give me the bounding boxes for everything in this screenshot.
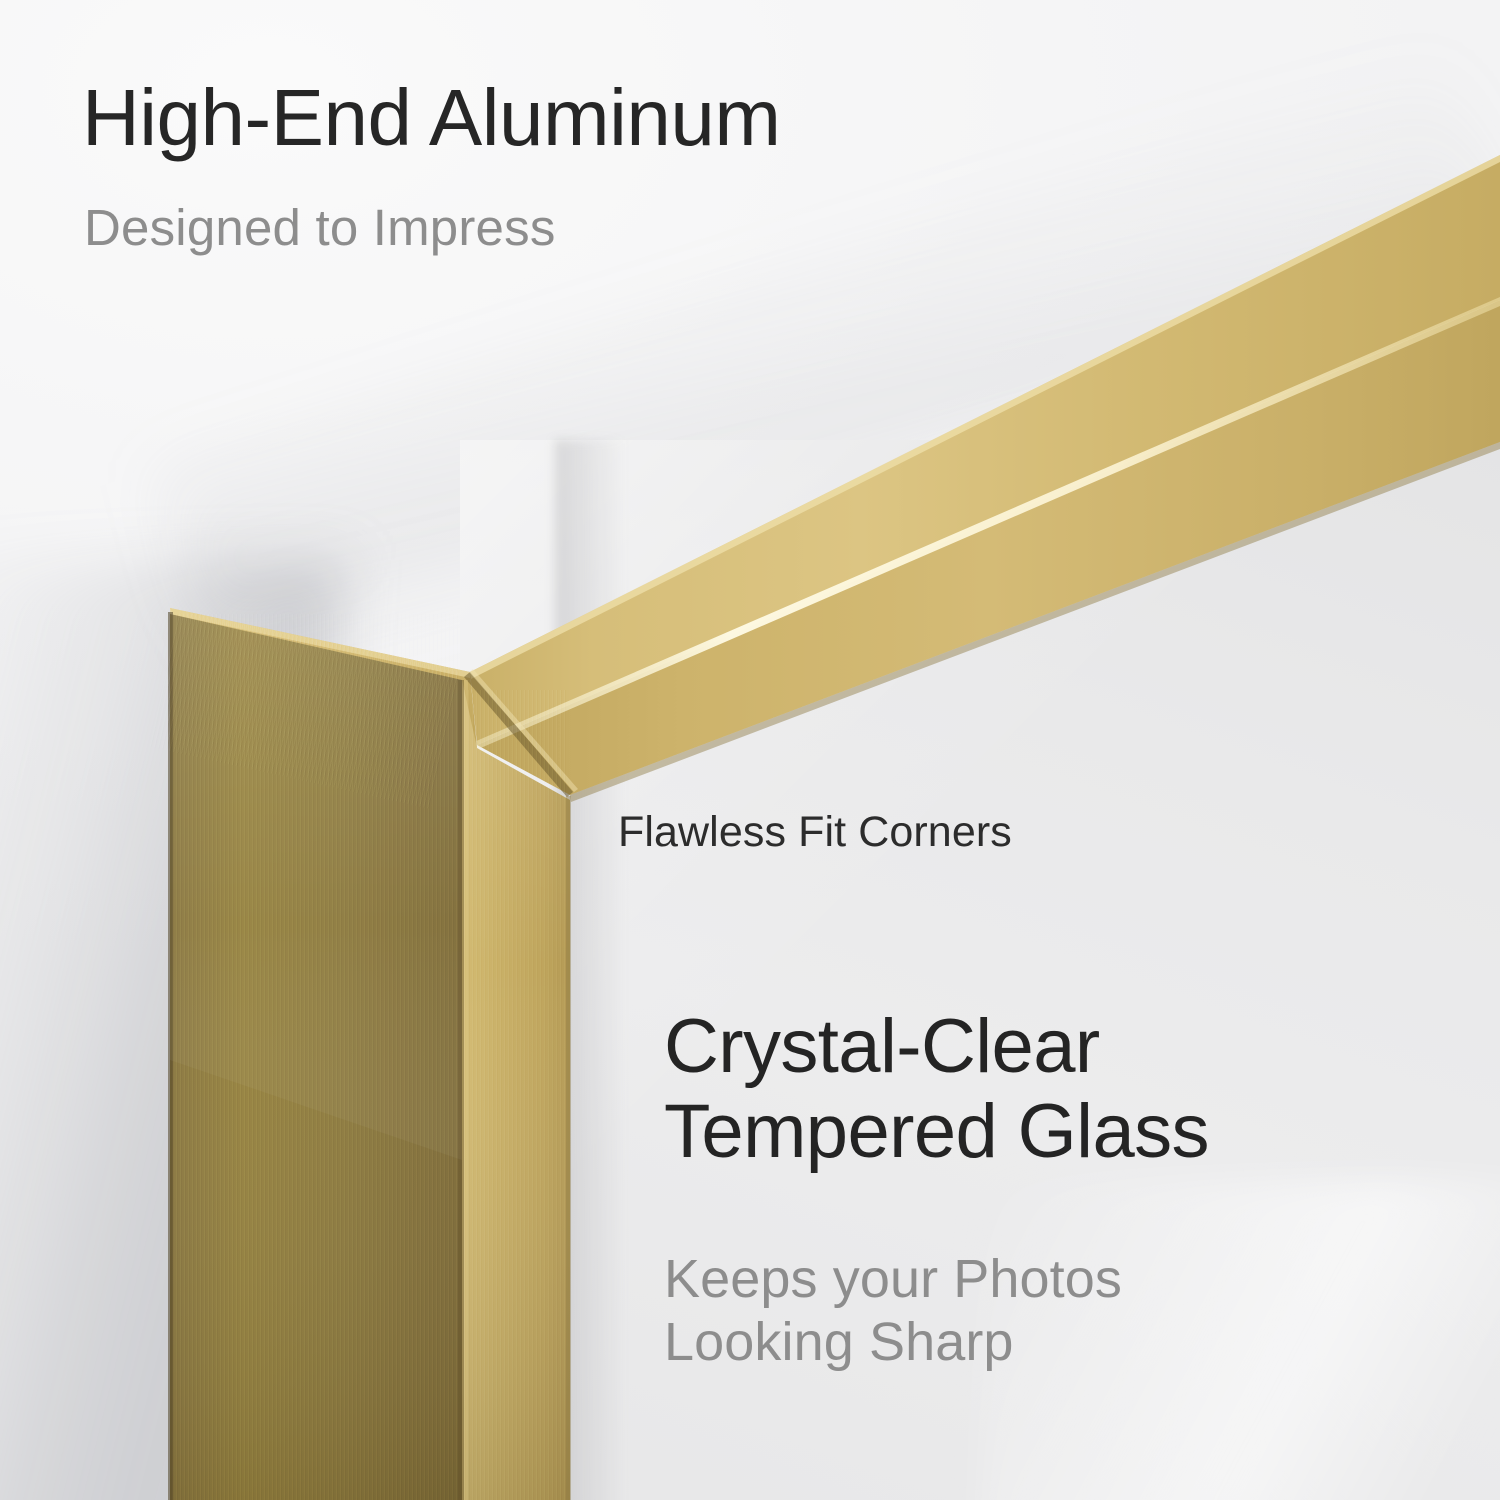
annotation-glass-subtitle: Keeps your Photos Looking Sharp: [664, 1248, 1122, 1373]
annotation-glass-sub-line2: Looking Sharp: [664, 1311, 1122, 1374]
annotation-glass-title-line2: Tempered Glass: [664, 1089, 1209, 1174]
frame-left-rail-crease-highlight: [464, 680, 468, 1500]
annotation-flawless-fit-corners: Flawless Fit Corners: [618, 808, 1012, 857]
page-title: High-End Aluminum: [82, 76, 781, 159]
frame-left-rail-inner-shade: [462, 680, 570, 1500]
frame-top-rail-highlight-seam: [474, 297, 1500, 750]
frame-top-rail-front-bevel: [477, 300, 1500, 795]
product-feature-image: High-End Aluminum Designed to Impress Fl…: [0, 0, 1500, 1500]
page-subtitle: Designed to Impress: [84, 198, 556, 257]
annotation-glass-title: Crystal-Clear Tempered Glass: [664, 1004, 1209, 1174]
frame-left-rail-inner-edge-line: [566, 796, 571, 1500]
annotation-glass-sub-line1: Keeps your Photos: [664, 1248, 1122, 1311]
annotation-glass-title-line1: Crystal-Clear: [664, 1004, 1209, 1089]
